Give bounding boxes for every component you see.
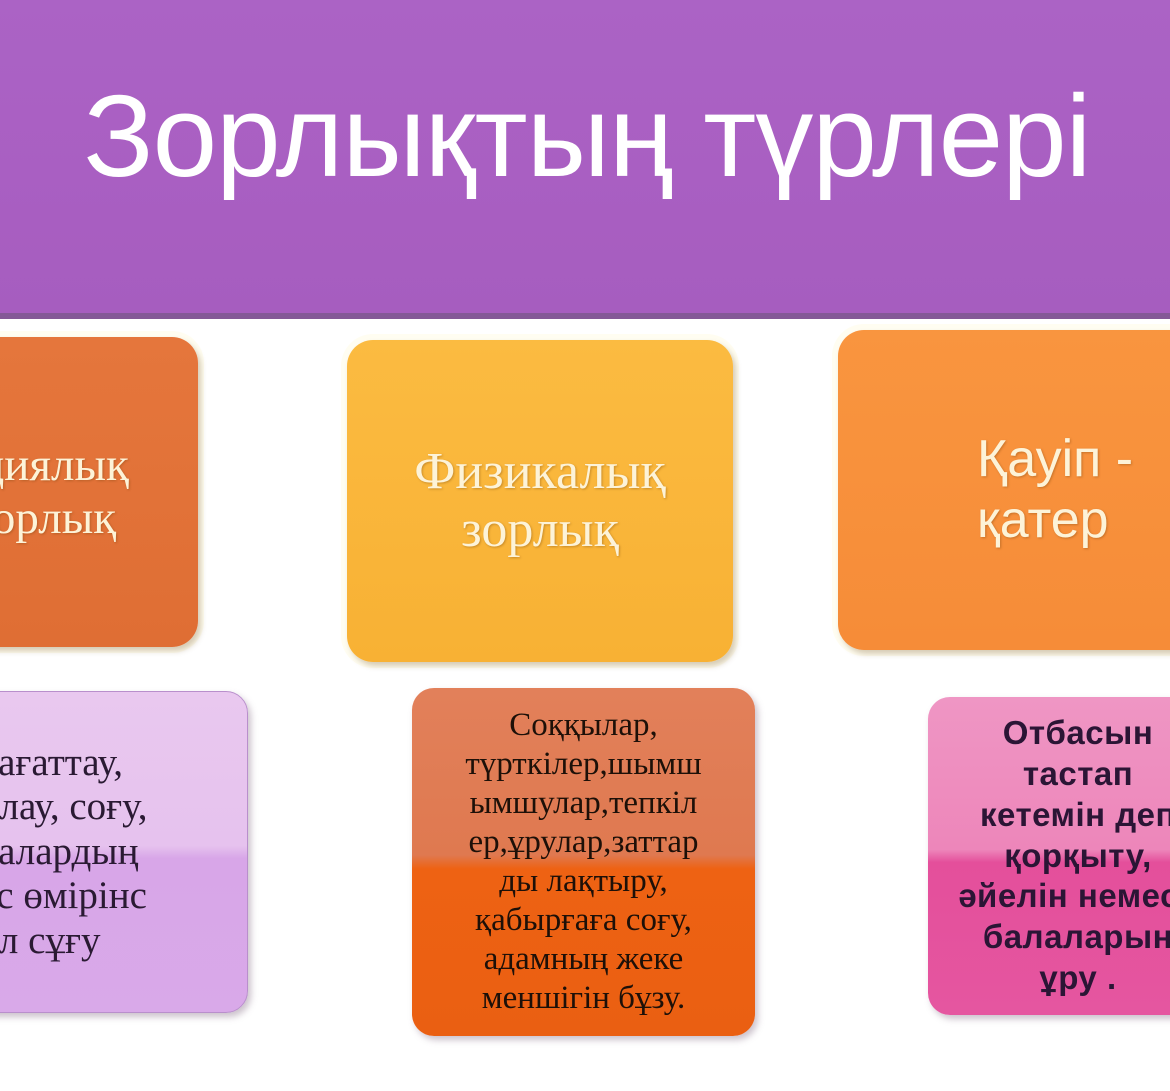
desc-line: Отбасын bbox=[1003, 714, 1154, 751]
description-box-threat-text: Отбасын тастап кетемін деп қорқыту, әйел… bbox=[928, 709, 1170, 1003]
category-card-threat-label: Қауіп - қатер bbox=[903, 429, 1143, 552]
description-box-threat[interactable]: Отбасын тастап кетемін деп қорқыту, әйел… bbox=[928, 697, 1170, 1015]
desc-line: ұру . bbox=[1039, 959, 1116, 996]
category-card-emotional-label: циялық орлық bbox=[0, 439, 198, 544]
desc-line: ды лақтыру, bbox=[499, 863, 667, 899]
category-card-emotional[interactable]: циялық орлық bbox=[0, 337, 198, 647]
category-label-line-1: Физикалық bbox=[414, 443, 665, 500]
desc-line: ымшулар,тепкіл bbox=[470, 785, 698, 821]
category-label-line-2: қатер bbox=[977, 491, 1109, 549]
description-box-physical[interactable]: Соққылар, түрткілер,шымш ымшулар,тепкіл … bbox=[412, 688, 755, 1036]
category-label-line-2: зорлық bbox=[461, 501, 619, 558]
desc-line: алағаттау, bbox=[0, 741, 123, 784]
description-box-physical-text: Соққылар, түрткілер,шымш ымшулар,тепкіл … bbox=[412, 702, 755, 1022]
desc-line: қабырғаға соғу, bbox=[475, 902, 692, 938]
desc-line: қорқыту, bbox=[1004, 837, 1152, 874]
desc-line: ер,ұрулар,заттар bbox=[468, 824, 698, 860]
desc-line: орлау, соғу, bbox=[0, 785, 148, 828]
desc-line: Соққылар, bbox=[509, 707, 658, 743]
page-title: Зорлықтың түрлері bbox=[0, 78, 1170, 194]
desc-line: екс өмірінс bbox=[0, 874, 147, 917]
category-label-line-1: Қауіп - bbox=[977, 430, 1133, 488]
category-label-line-2: орлық bbox=[0, 492, 116, 544]
slide-canvas: Зорлықтың түрлері циялық орлық Физикалық… bbox=[0, 0, 1170, 1091]
description-box-emotional-text: алағаттау, орлау, соғу, алалардың екс өм… bbox=[0, 737, 247, 967]
title-banner-underline bbox=[0, 313, 1170, 319]
category-card-threat[interactable]: Қауіп - қатер bbox=[838, 330, 1170, 650]
desc-line: алалардың bbox=[0, 830, 138, 873]
category-card-physical-label: Физикалық зорлық bbox=[404, 443, 675, 559]
desc-line: меншігін бұзу. bbox=[482, 980, 685, 1016]
category-card-physical[interactable]: Физикалық зорлық bbox=[347, 340, 733, 662]
desc-line: тастап bbox=[1023, 755, 1133, 792]
category-label-line-1: циялық bbox=[0, 439, 129, 491]
description-box-emotional[interactable]: алағаттау, орлау, соғу, алалардың екс өм… bbox=[0, 691, 248, 1013]
desc-line: адамның жеке bbox=[484, 941, 684, 977]
desc-line: әйелін немесе bbox=[958, 877, 1170, 914]
desc-line: қол сұғу bbox=[0, 919, 100, 962]
desc-line: түрткілер,шымш bbox=[465, 746, 701, 782]
desc-line: кетемін деп bbox=[980, 796, 1170, 833]
desc-line: балаларын bbox=[983, 918, 1170, 955]
